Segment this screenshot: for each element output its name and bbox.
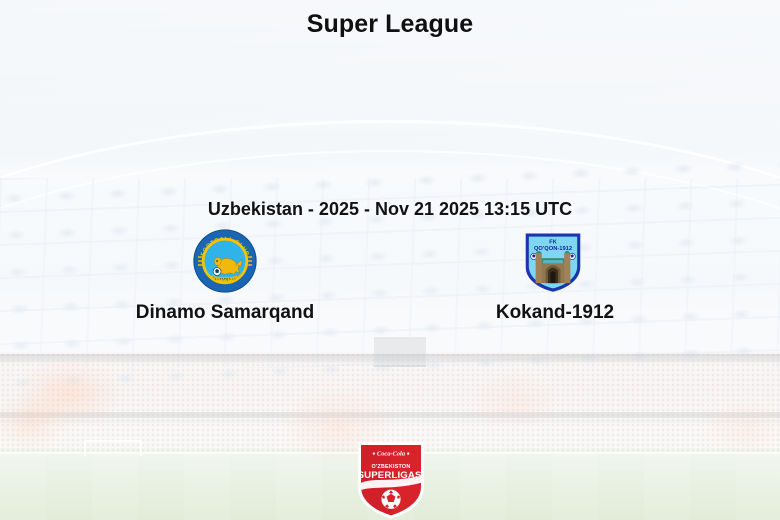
- svg-text:FK: FK: [549, 239, 556, 245]
- svg-text:Coca-Cola: Coca-Cola: [377, 451, 406, 458]
- svg-text:2019: 2019: [401, 482, 411, 487]
- teams-row: SAMARQAND FOOTBALL CLUB DINAMO: [0, 228, 780, 324]
- match-meta-line: Uzbekistan - 2025 - Nov 21 2025 13:15 UT…: [0, 199, 780, 220]
- page-title: Super League: [0, 10, 780, 39]
- svg-text:SUPERLIGASI: SUPERLIGASI: [358, 470, 425, 481]
- team-home-name: Dinamo Samarqand: [136, 302, 314, 324]
- team-away-name: Kokand-1912: [496, 302, 614, 324]
- team-home[interactable]: SAMARQAND FOOTBALL CLUB DINAMO: [60, 228, 390, 324]
- kokand-1912-crest-icon: FK QO'QON-1912: [522, 228, 588, 294]
- svg-text:O'ZBEKISTON: O'ZBEKISTON: [372, 464, 411, 470]
- dinamo-samarqand-crest-icon: SAMARQAND FOOTBALL CLUB DINAMO: [192, 228, 258, 294]
- uzbekistan-superligasi-badge-icon: Coca-Cola O'ZBEKISTON SUPERLIGASI 2019: [355, 440, 427, 520]
- team-away[interactable]: FK QO'QON-1912: [390, 228, 720, 324]
- match-preview-card: Super League Uzbekistan - 2025 - Nov 21 …: [0, 0, 780, 520]
